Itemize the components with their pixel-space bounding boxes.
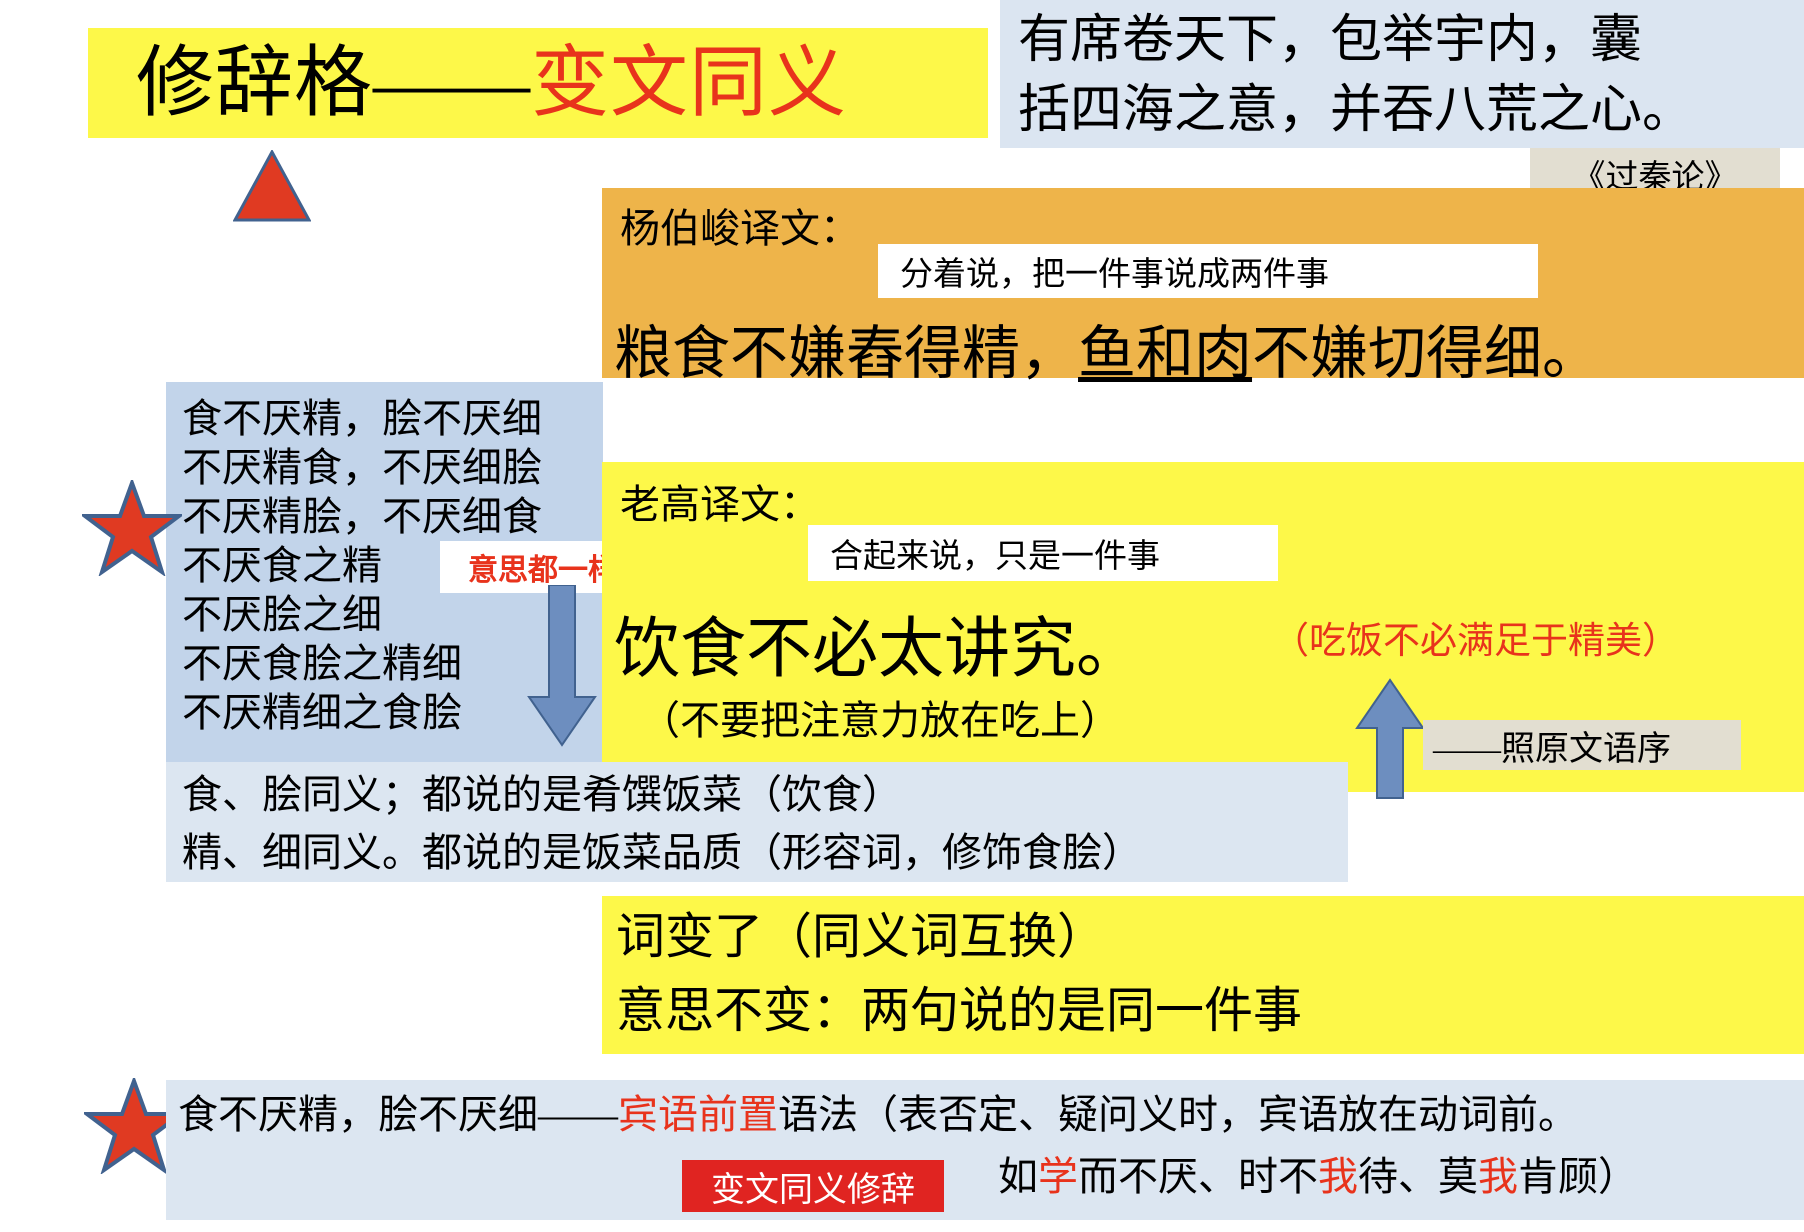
yang-inset-note-text: 分着说，把一件事说成两件事	[900, 247, 1329, 295]
red-triangle-up-icon	[233, 150, 311, 222]
grammar-note-box: 食不厌精，脍不厌细——宾语前置语法（表否定、疑问义时，宾语放在动词前。 如学而不…	[166, 1080, 1804, 1220]
rhetoric-device-tag-text: 变文同义修辞	[711, 1162, 915, 1211]
list-item: 不厌精食，不厌细脍	[182, 443, 603, 492]
grammar-line1-highlight: 宾语前置	[618, 1092, 778, 1137]
original-word-order-note-text: ——照原文语序	[1433, 721, 1671, 770]
list-item: 食不厌精，脍不厌细	[182, 394, 603, 443]
arrow-down-icon	[527, 585, 597, 747]
grammar-note-line-2: 如学而不厌、时不我待、莫我肯顾）	[178, 1146, 1804, 1208]
summary-box: 词变了（同义词互换） 意思不变：两句说的是同一件事	[602, 896, 1804, 1054]
quote-line-1: 有席卷天下，包举宇内，囊	[1018, 6, 1790, 76]
lao-inset-note-box: 合起来说，只是一件事	[808, 525, 1278, 581]
grammar-line1-part-b: 语法（表否定、疑问义时，宾语放在动词前。	[778, 1092, 1578, 1137]
lao-translation-subnote: （不要把注意力放在吃上）	[640, 688, 1120, 746]
grammar-line2-highlight-1: 学	[1038, 1154, 1078, 1199]
grammar-line2-part-a: 如	[998, 1154, 1038, 1199]
original-word-order-note-box: ——照原文语序	[1423, 720, 1741, 770]
lao-red-alt-note: （吃饭不必满足于精美）	[1272, 610, 1679, 664]
slide-title: 修辞格——变文同义	[136, 44, 847, 122]
red-star-icon	[82, 480, 182, 576]
quote-line-2: 括四海之意，并吞八荒之心。	[1018, 76, 1790, 146]
rhetoric-device-tag: 变文同义修辞	[682, 1160, 944, 1212]
slide-title-banner: 修辞格——变文同义	[88, 28, 988, 138]
grammar-line2-part-d: 肯顾）	[1518, 1154, 1638, 1199]
grammar-line2-highlight-3: 我	[1478, 1154, 1518, 1199]
yang-inset-note-box: 分着说，把一件事说成两件事	[878, 244, 1538, 298]
same-meaning-note-text: 意思都一样	[468, 545, 618, 589]
yang-translation-label: 杨伯峻译文：	[620, 196, 860, 254]
yang-sentence-underlined: 鱼和肉	[1078, 321, 1252, 386]
lao-translation-label: 老高译文：	[620, 472, 820, 530]
grammar-note-line-1: 食不厌精，脍不厌细——宾语前置语法（表否定、疑问义时，宾语放在动词前。	[178, 1084, 1804, 1146]
arrow-up-icon	[1355, 678, 1425, 800]
grammar-line2-highlight-2: 我	[1318, 1154, 1358, 1199]
title-black-part: 修辞格——	[136, 39, 531, 126]
yang-sentence-part1: 粮食不嫌舂得精，	[614, 321, 1078, 386]
explanation-line-2: 精、细同义。都说的是饭菜品质（形容词，修饰食脍）	[182, 824, 1348, 882]
explanation-line-1: 食、脍同义；都说的是肴馔饭菜（饮食）	[182, 766, 1348, 824]
slide-canvas: 修辞格——变文同义 有席卷天下，包举宇内，囊 括四海之意，并吞八荒之心。 《过秦…	[0, 0, 1804, 1232]
synonym-explanation-box: 食、脍同义；都说的是肴馔饭菜（饮食） 精、细同义。都说的是饭菜品质（形容词，修饰…	[166, 762, 1348, 882]
yang-sentence-part2: 不嫌切得细。	[1252, 321, 1600, 386]
yang-translation-sentence: 粮食不嫌舂得精，鱼和肉不嫌切得细。	[614, 306, 1600, 390]
title-red-part: 变文同义	[531, 39, 847, 126]
grammar-line1-part-a: 食不厌精，脍不厌细——	[178, 1092, 618, 1137]
classical-quote-box: 有席卷天下，包举宇内，囊 括四海之意，并吞八荒之心。	[1000, 0, 1804, 148]
list-item: 不厌精脍，不厌细食	[182, 492, 603, 541]
grammar-line2-part-c: 待、莫	[1358, 1154, 1478, 1199]
summary-line-2: 意思不变：两句说的是同一件事	[616, 974, 1804, 1048]
lao-inset-note-text: 合起来说，只是一件事	[830, 529, 1160, 577]
grammar-line2-part-b: 而不厌、时不	[1078, 1154, 1318, 1199]
lao-translation-sentence: 饮食不必太讲究。	[614, 595, 1142, 691]
summary-line-1: 词变了（同义词互换）	[616, 900, 1804, 974]
